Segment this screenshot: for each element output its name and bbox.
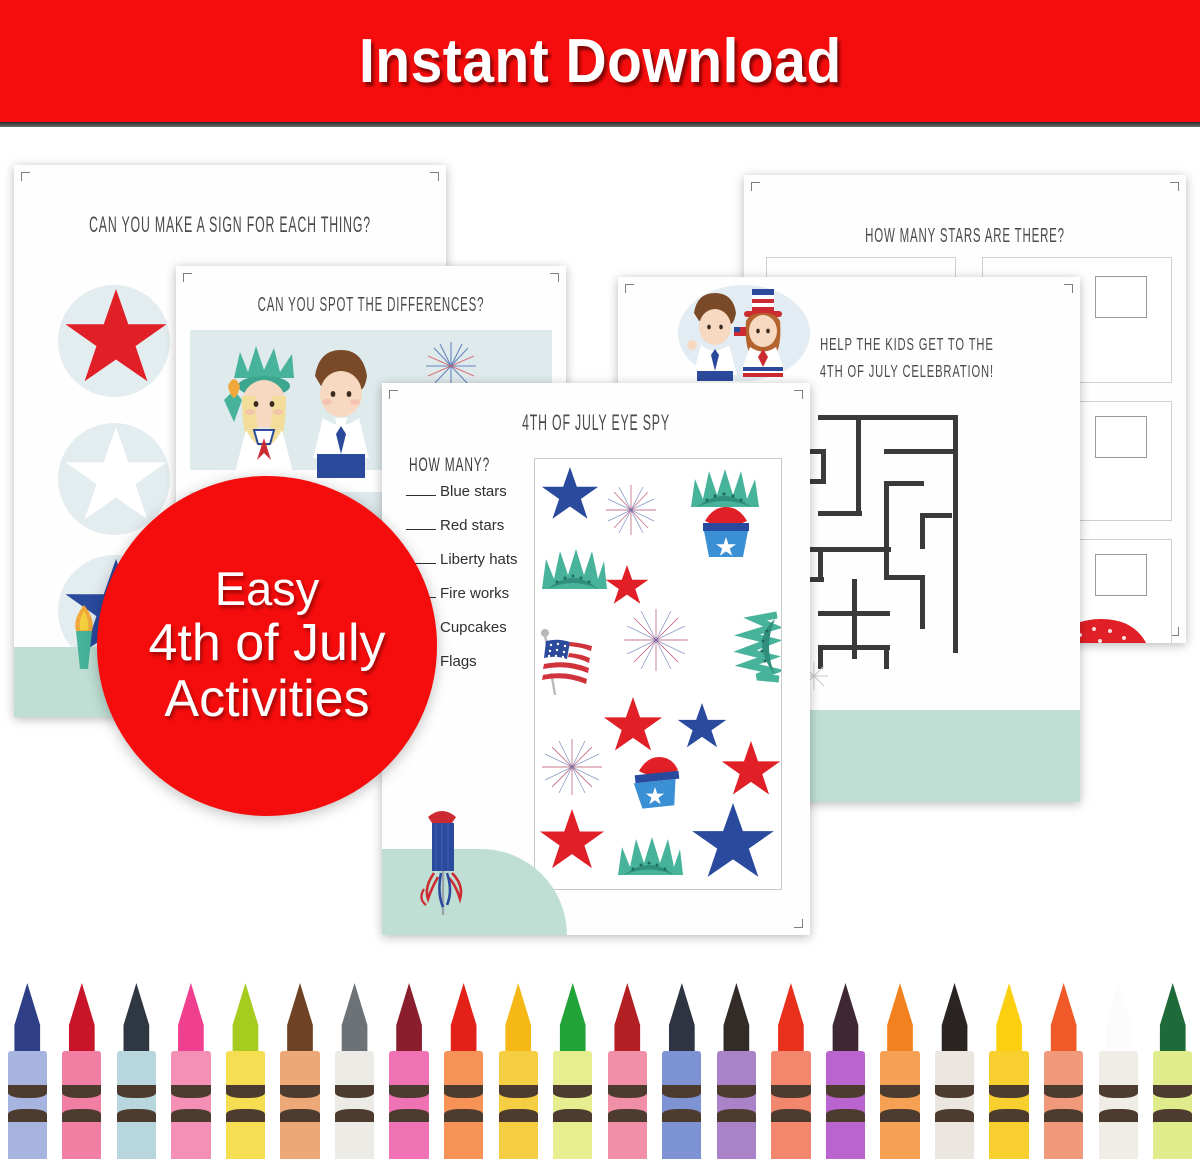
crayon-label-band [553, 1085, 592, 1098]
crayon-tip [229, 983, 263, 1051]
eye-spy-prompt: HOW MANY? [409, 453, 490, 475]
crayon-label-band [826, 1109, 865, 1122]
crayon-body [553, 1051, 592, 1159]
banner-divider [0, 122, 1200, 127]
easy-activities-badge[interactable]: Easy 4th of July Activities [97, 476, 437, 816]
crayon-label-band [171, 1109, 210, 1122]
red-star-icon [721, 741, 781, 799]
list-item-label: Red stars [440, 517, 504, 534]
crayon-tip [283, 983, 317, 1051]
crayon-hot-pink [164, 983, 219, 1159]
crayon-label-band [1099, 1085, 1138, 1098]
crayon-tip [338, 983, 372, 1051]
crayon-row [0, 950, 1200, 1159]
worksheet-title: 4TH OF JULY EYE SPY [421, 411, 772, 436]
crayon-scarlet [764, 983, 819, 1159]
crayon-body [1099, 1051, 1138, 1159]
cupcake-icon [627, 755, 687, 809]
crop-mark-icon [550, 273, 559, 282]
fireworks-icon [539, 737, 605, 797]
crop-mark-icon [794, 390, 803, 399]
crayon-body [1044, 1051, 1083, 1159]
list-item-label: Blue stars [440, 483, 507, 500]
list-item[interactable]: Liberty hats [406, 551, 546, 568]
blue-star-icon [541, 467, 599, 523]
crop-mark-icon [430, 172, 439, 181]
crayon-orange [873, 983, 928, 1159]
red-star-icon [603, 697, 663, 755]
crayon-body [717, 1051, 756, 1159]
crop-mark-icon [389, 390, 398, 399]
answer-box[interactable] [1095, 554, 1147, 596]
crayon-label-band [335, 1109, 374, 1122]
crop-mark-icon [21, 172, 30, 181]
answer-blank[interactable] [406, 483, 436, 496]
list-item-label: Cupcakes [440, 619, 507, 636]
crayon-label-band [989, 1085, 1028, 1098]
crayon-tip [992, 983, 1026, 1051]
crayon-body [226, 1051, 265, 1159]
liberty-hat-icon [537, 543, 609, 595]
crayon-label-band [880, 1109, 919, 1122]
crayon-label-band [117, 1085, 156, 1098]
crayon-tip [883, 983, 917, 1051]
answer-box[interactable] [1095, 276, 1147, 318]
crayon-label-band [499, 1109, 538, 1122]
crayon-body [989, 1051, 1028, 1159]
crayon-body [389, 1051, 428, 1159]
crayon-label-band [662, 1085, 701, 1098]
crayon-tip [10, 983, 44, 1051]
crayon-label-band [935, 1085, 974, 1098]
blue-star-icon [677, 703, 727, 751]
list-item-label: Fire works [440, 585, 509, 602]
crop-mark-icon [183, 273, 192, 282]
crayon-label-band [880, 1085, 919, 1098]
worksheet-title: HOW MANY STARS ARE THERE? [784, 223, 1146, 246]
cupcake-icon [695, 507, 757, 559]
banner-title: Instant Download [359, 26, 842, 97]
badge-line-3: Activities [164, 671, 369, 727]
blue-star-icon [691, 803, 775, 883]
crayon-body [662, 1051, 701, 1159]
crayon-body [335, 1051, 374, 1159]
maze-grid [796, 389, 1046, 667]
liberty-hat-icon [685, 463, 763, 511]
crayon-body [117, 1051, 156, 1159]
crayon-label-band [771, 1109, 810, 1122]
crayon-tip [938, 983, 972, 1051]
crayon-label-band [389, 1085, 428, 1098]
crayon-label-band [444, 1109, 483, 1122]
crayon-label-band [1153, 1109, 1192, 1122]
badge-line-1: Easy [215, 564, 320, 615]
red-star-icon [605, 565, 649, 607]
crayon-label-band [499, 1085, 538, 1098]
list-item[interactable]: Red stars [406, 517, 546, 534]
fireworks-icon [603, 483, 659, 537]
crayon-body [880, 1051, 919, 1159]
crayon-slate-gray [327, 983, 382, 1159]
crayon-label-band [226, 1085, 265, 1098]
crayon-yellow [982, 983, 1037, 1159]
crayon-label-band [717, 1109, 756, 1122]
crayon-tip [1047, 983, 1081, 1051]
crayon-label-band [280, 1085, 319, 1098]
crayon-tip [174, 983, 208, 1051]
crayon-tip [119, 983, 153, 1051]
kids-with-hat-illustration [682, 287, 806, 381]
crop-mark-icon [1064, 284, 1073, 293]
maze-instruction: HELP THE KIDS GET TO THE 4TH OF JULY CEL… [808, 331, 1006, 385]
crayon-dark-red [600, 983, 655, 1159]
list-item[interactable]: Blue stars [406, 483, 546, 500]
american-flag-icon [537, 627, 607, 699]
crayon-midnight [655, 983, 710, 1159]
crayon-label-band [608, 1085, 647, 1098]
crop-mark-icon [794, 919, 803, 928]
crayon-label-band [8, 1109, 47, 1122]
crayon-label-band [608, 1109, 647, 1122]
crayon-label-band [935, 1109, 974, 1122]
crayon-body [826, 1051, 865, 1159]
crayon-tip [392, 983, 426, 1051]
crayon-body [1153, 1051, 1192, 1159]
answer-blank[interactable] [406, 517, 436, 530]
crayon-tip [829, 983, 863, 1051]
crayon-body [280, 1051, 319, 1159]
crop-mark-icon [625, 284, 634, 293]
crayon-label-band [280, 1109, 319, 1122]
crayon-crimson [55, 983, 110, 1159]
crayon-label-band [1099, 1109, 1138, 1122]
red-star-icon [539, 809, 605, 873]
crayon-tangerine [1036, 983, 1091, 1159]
crayon-black-brown [709, 983, 764, 1159]
liberty-hat-icon [613, 833, 687, 879]
crayon-label-band [662, 1109, 701, 1122]
worksheet-title: CAN YOU SPOT THE DIFFERENCES? [211, 292, 531, 315]
crayon-green [545, 983, 600, 1159]
crayon-label-band [1044, 1085, 1083, 1098]
crayon-body [771, 1051, 810, 1159]
crayon-lime-green [218, 983, 273, 1159]
crayon-body [499, 1051, 538, 1159]
crayon-label-band [989, 1109, 1028, 1122]
crayon-label-band [62, 1109, 101, 1122]
crayon-tip [501, 983, 535, 1051]
crayon-body [62, 1051, 101, 1159]
crayon-tip [556, 983, 590, 1051]
eye-spy-picture-grid [534, 458, 782, 890]
crayon-label-band [226, 1109, 265, 1122]
crayon-label-band [826, 1085, 865, 1098]
crayon-tip [774, 983, 808, 1051]
crayon-navy-blue [0, 983, 55, 1159]
answer-box[interactable] [1095, 416, 1147, 458]
crayon-label-band [389, 1109, 428, 1122]
crop-mark-icon [751, 182, 760, 191]
crayon-body [608, 1051, 647, 1159]
crayon-label-band [8, 1085, 47, 1098]
liberty-hat-icon [717, 609, 782, 683]
kids-illustration [204, 338, 404, 478]
crayon-maroon [382, 983, 437, 1159]
crayon-bright-red [436, 983, 491, 1159]
rocket-firework-icon [408, 797, 500, 917]
crayon-brown [273, 983, 328, 1159]
crayon-label-band [717, 1085, 756, 1098]
crayon-label-band [771, 1085, 810, 1098]
crayon-body [444, 1051, 483, 1159]
crayon-tip [665, 983, 699, 1051]
worksheet-title: CAN YOU MAKE A SIGN FOR EACH THING? [53, 213, 407, 238]
crayon-tip [1101, 983, 1135, 1051]
crayon-charcoal [109, 983, 164, 1159]
crayon-white [1091, 983, 1146, 1159]
crayon-label-band [117, 1109, 156, 1122]
crayon-label-band [171, 1085, 210, 1098]
crayon-label-band [444, 1085, 483, 1098]
crayon-label-band [1153, 1085, 1192, 1098]
worksheet-eye-spy[interactable]: 4TH OF JULY EYE SPY HOW MANY? Blue stars… [382, 383, 810, 935]
printable-product-preview: Instant Download CAN YOU MAKE A SIGN FOR… [0, 0, 1200, 1159]
maze-instruction-line2: 4TH OF JULY CELEBRATION! [820, 361, 994, 381]
crayon-body [8, 1051, 47, 1159]
crayon-tip [719, 983, 753, 1051]
crayon-label-band [62, 1085, 101, 1098]
crayon-label-band [553, 1109, 592, 1122]
crayon-body [935, 1051, 974, 1159]
crayon-label-band [1044, 1109, 1083, 1122]
crayon-tip [65, 983, 99, 1051]
maze-instruction-line1: HELP THE KIDS GET TO THE [820, 334, 993, 354]
fireworks-icon [621, 607, 691, 673]
crayon-black [927, 983, 982, 1159]
crayon-tip [1156, 983, 1190, 1051]
list-item-label: Flags [440, 653, 477, 670]
crayon-golden-yellow [491, 983, 546, 1159]
crayon-tip [447, 983, 481, 1051]
badge-line-2: 4th of July [148, 615, 385, 671]
crayon-body [171, 1051, 210, 1159]
crayon-forest-green [1145, 983, 1200, 1159]
crayon-tip [610, 983, 644, 1051]
crayon-dark-plum [818, 983, 873, 1159]
crayon-label-band [335, 1085, 374, 1098]
crop-mark-icon [1170, 182, 1179, 191]
list-item-label: Liberty hats [440, 551, 518, 568]
instant-download-banner: Instant Download [0, 0, 1200, 122]
